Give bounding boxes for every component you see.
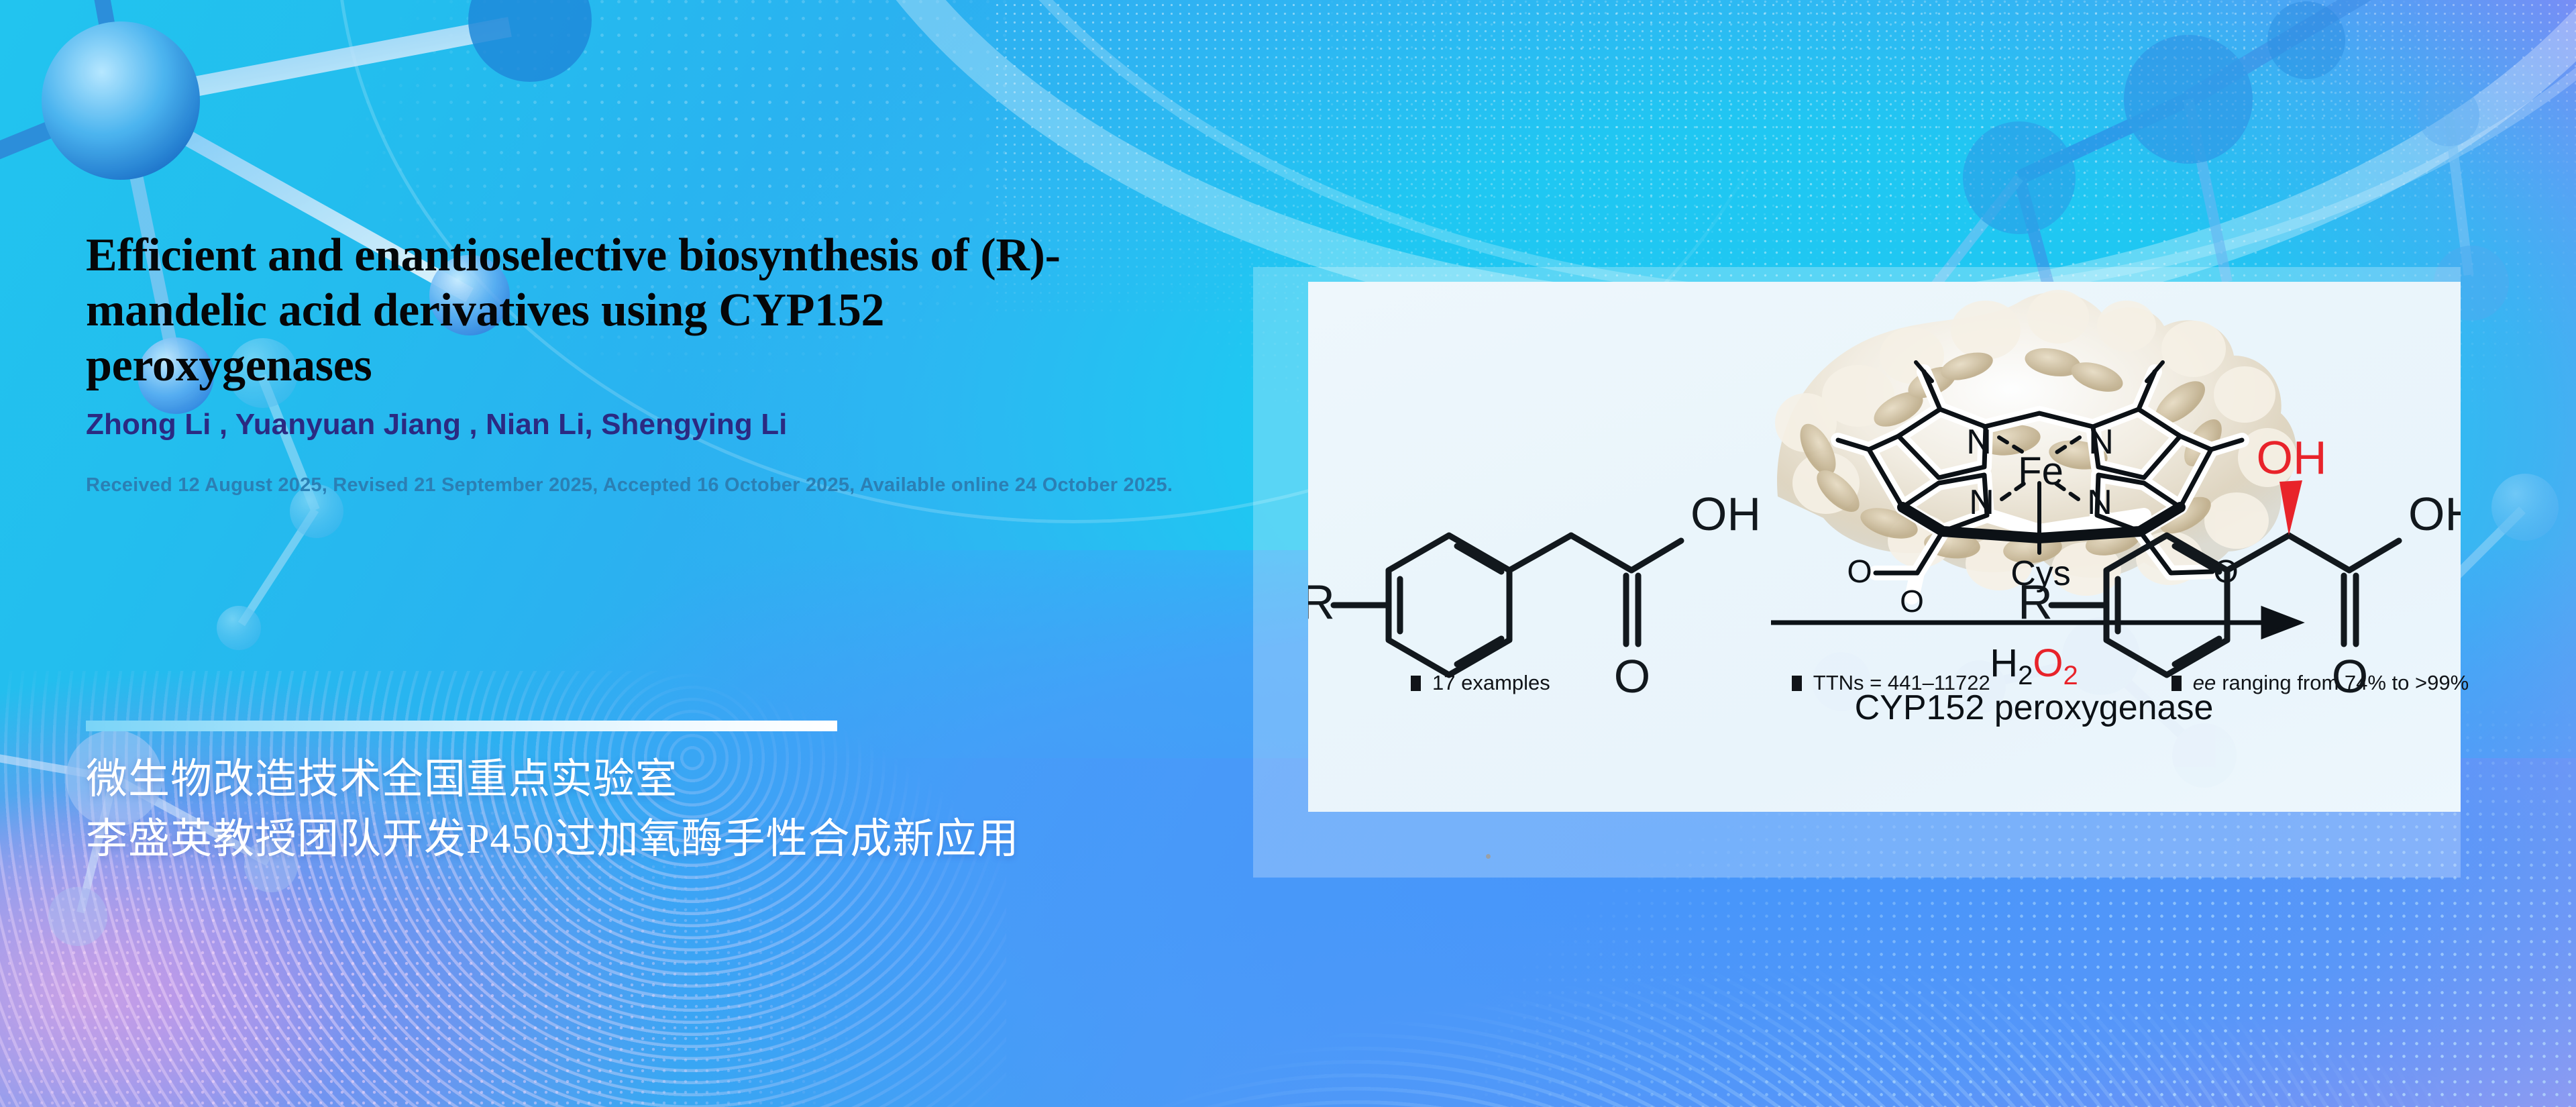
highlight-item-examples: 17 examples (1411, 671, 1550, 695)
highlight-text: TTNs = 441–11722 (1813, 671, 1990, 695)
banner-root: Efficient and enantioselective biosynthe… (0, 0, 2576, 1107)
product-r-label: R (2018, 576, 2053, 629)
substrate-r-label: R (1308, 576, 1335, 629)
article-text-column: Efficient and enantioselective biosynthe… (86, 228, 1253, 505)
graphical-abstract-panel: R OH O (1308, 282, 2461, 812)
heme-n-label-bottom-right: N (2087, 483, 2112, 522)
substrate-acid-oh-label: OH (1690, 488, 1761, 540)
panel-artifact-dot (1486, 854, 1491, 859)
heme-n-label-top-right: N (2088, 423, 2114, 462)
heme-n-label-top-left: N (1966, 423, 1992, 462)
page-title: Efficient and enantioselective biosynthe… (86, 228, 1173, 393)
chinese-caption-line-2: 李盛英教授团队开发P450过加氧酶手性合成新应用 (86, 810, 1019, 869)
bullet-square-icon (1411, 676, 1421, 691)
product-acid-oh-label: OH (2408, 488, 2461, 540)
section-divider (86, 721, 837, 731)
highlight-text: ranging from 74% to >99% (2222, 671, 2469, 695)
heme-n-label-bottom-left: N (1969, 483, 1994, 522)
highlight-item-ee: ee ranging from 74% to >99% (2171, 671, 2469, 695)
stereo-wedge-bond (2279, 480, 2302, 535)
highlight-item-ttns: TTNs = 441–11722 (1792, 671, 1990, 695)
chinese-caption-block: 微生物改造技术全国重点实验室 李盛英教授团队开发P450过加氧酶手性合成新应用 (86, 750, 1019, 870)
highlight-text: 17 examples (1432, 671, 1550, 695)
bullet-square-icon (1792, 676, 1802, 691)
product-hydroxyl-label: OH (2257, 431, 2327, 484)
heme-propionate-o-left: O (1847, 554, 1872, 590)
chinese-caption-line-1: 微生物改造技术全国重点实验室 (86, 750, 1019, 810)
heme-fe-label: Fe (2018, 450, 2063, 493)
publication-history: Received 12 August 2025, Revised 21 Sept… (86, 466, 1179, 505)
highlight-italic-prefix: ee (2193, 671, 2216, 695)
author-list: Zhong Li , Yuanyuan Jiang , Nian Li, She… (86, 408, 1253, 441)
bullet-square-icon (2171, 676, 2182, 691)
heme-propionate-o-left-2: O (1900, 584, 1924, 619)
reaction-scheme: R OH O (1308, 282, 2461, 812)
highlights-row: 17 examples TTNs = 441–11722 ee ranging … (1365, 671, 2425, 695)
